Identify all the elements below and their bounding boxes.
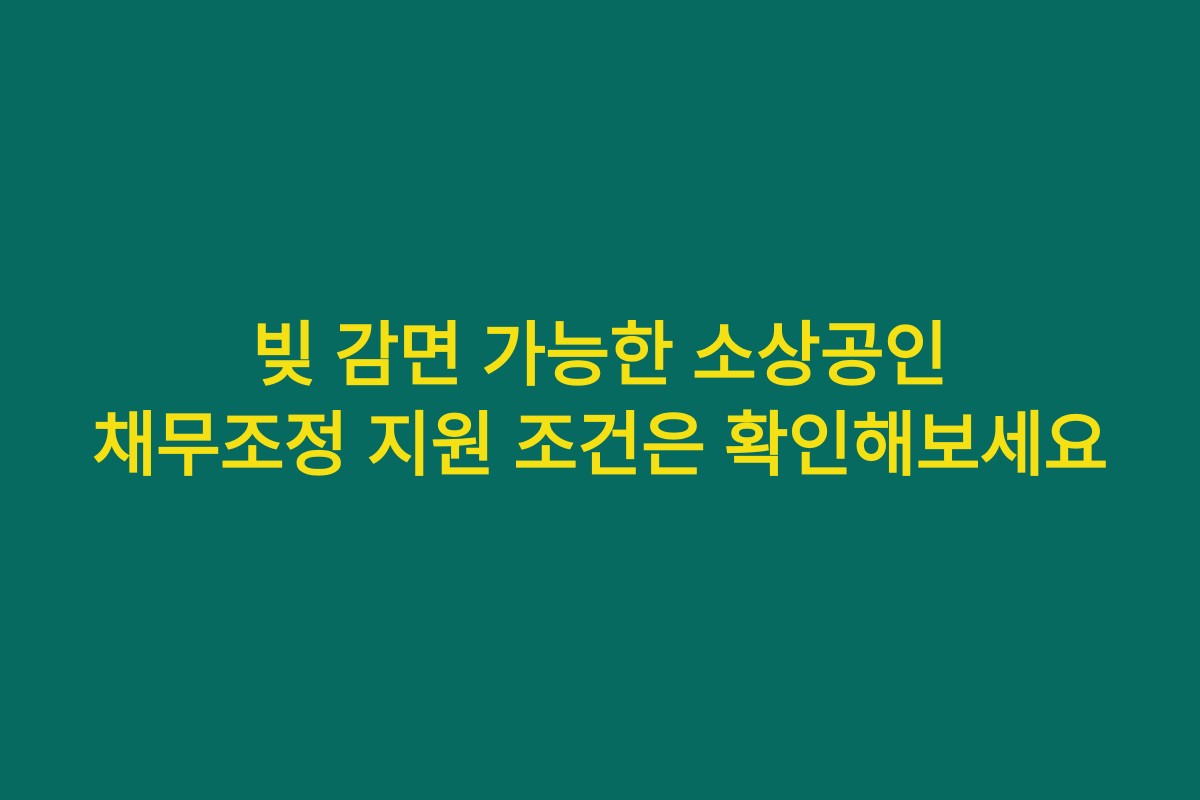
headline-block: 빚 감면 가능한 소상공인 채무조정 지원 조건은 확인해보세요	[0, 310, 1200, 490]
headline-line-1: 빚 감면 가능한 소상공인	[24, 310, 1176, 400]
banner-root: 빚 감면 가능한 소상공인 채무조정 지원 조건은 확인해보세요	[0, 0, 1200, 800]
headline-line-2: 채무조정 지원 조건은 확인해보세요	[24, 400, 1176, 490]
